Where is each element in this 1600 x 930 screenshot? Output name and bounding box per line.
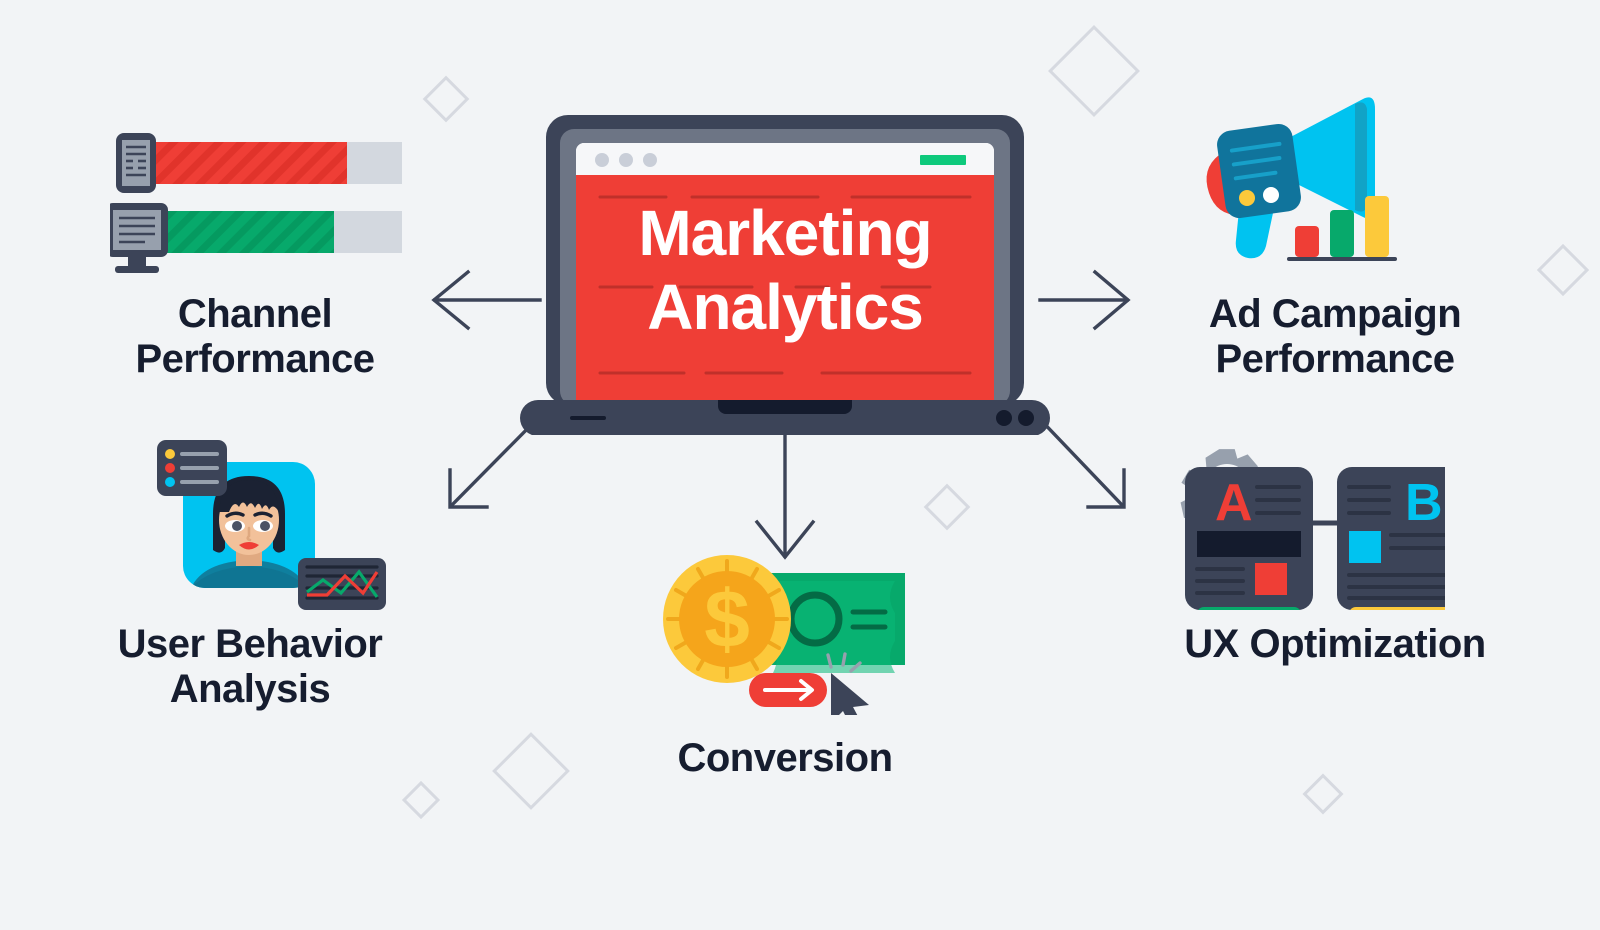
variant-b-button bbox=[1349, 607, 1445, 610]
variant-card-b: B bbox=[1337, 467, 1445, 610]
cta-button[interactable] bbox=[749, 673, 827, 707]
arrow-to-conversion bbox=[757, 425, 813, 557]
coin-icon: $ bbox=[663, 555, 791, 683]
variant-b-swatch bbox=[1349, 531, 1381, 563]
list-dot-yellow bbox=[165, 449, 175, 459]
variant-a-button bbox=[1197, 607, 1301, 610]
list-dot-red bbox=[165, 463, 175, 473]
label-channel-performance: Channel Performance bbox=[40, 292, 470, 382]
variant-b-letter: B bbox=[1405, 474, 1443, 532]
arrow-to-ux-optimization bbox=[1037, 416, 1124, 507]
browser-window-dots bbox=[595, 153, 657, 167]
marketing-analytics-laptop: Marketing Analytics bbox=[520, 115, 1050, 440]
list-dot-cyan bbox=[165, 477, 175, 487]
channel-bar-fill-red bbox=[154, 142, 347, 184]
megaphone-led-white bbox=[1263, 187, 1279, 203]
phone-icon bbox=[116, 133, 156, 193]
infographic-canvas: Marketing Analytics bbox=[0, 0, 1600, 930]
variant-a-swatch bbox=[1255, 563, 1287, 595]
list-card bbox=[157, 440, 227, 496]
screen-title-line1: Marketing bbox=[638, 197, 931, 269]
chart-card bbox=[298, 558, 386, 610]
screen-title-line2: Analytics bbox=[647, 271, 923, 343]
browser-tab-indicator bbox=[920, 155, 966, 165]
label-ad-campaign-performance: Ad Campaign Performance bbox=[1115, 292, 1555, 382]
user-behavior-icon bbox=[155, 440, 395, 615]
label-ux-optimization: UX Optimization bbox=[1090, 622, 1580, 667]
label-conversion: Conversion bbox=[600, 736, 970, 781]
variant-a-letter: A bbox=[1215, 474, 1253, 532]
ab-test-icon: A B bbox=[1165, 435, 1445, 615]
label-user-behavior-analysis: User Behavior Analysis bbox=[30, 622, 470, 712]
megaphone-icon bbox=[1185, 85, 1425, 285]
megaphone-body bbox=[1215, 122, 1303, 220]
megaphone-led-yellow bbox=[1239, 190, 1255, 206]
coin-dollar-symbol: $ bbox=[704, 574, 750, 665]
channel-performance-icon bbox=[110, 133, 410, 288]
monitor-icon bbox=[110, 203, 168, 273]
variant-card-a: A bbox=[1185, 467, 1313, 610]
channel-bar-fill-green bbox=[154, 211, 334, 253]
conversion-icon: $ bbox=[655, 555, 915, 720]
